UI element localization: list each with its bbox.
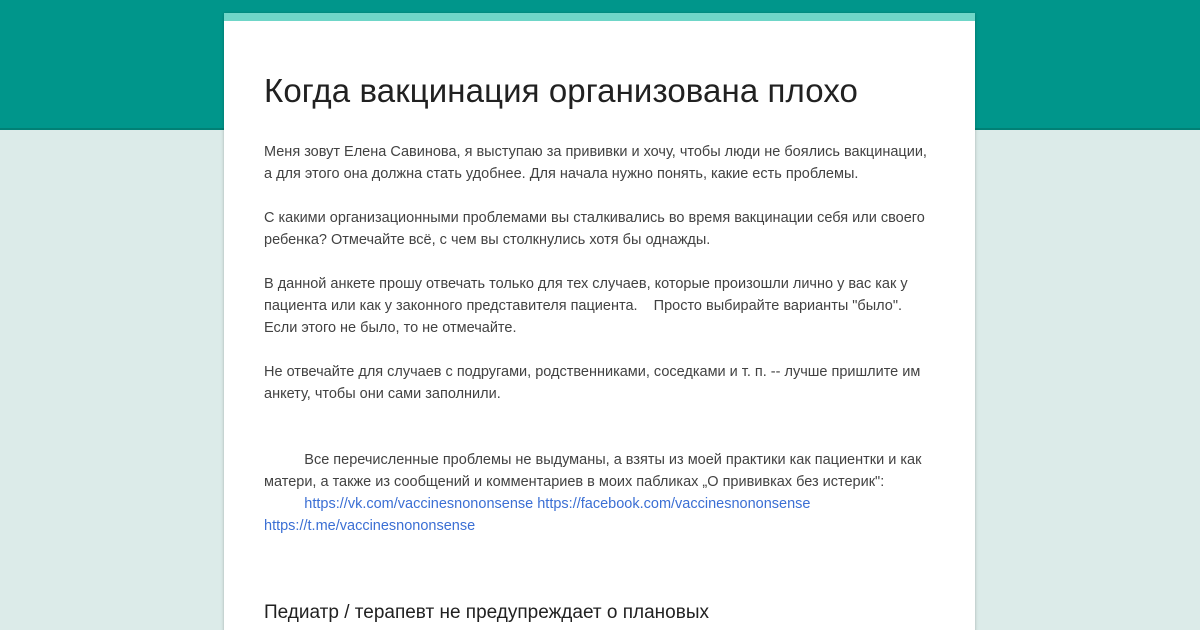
description-paragraph-2: С какими организационными проблемами вы … xyxy=(264,207,935,251)
form-card-content: Когда вакцинация организована плохо Меня… xyxy=(224,21,975,627)
link-facebook[interactable]: https://facebook.com/vaccinesnononsense xyxy=(537,496,810,512)
link-telegram[interactable]: https://t.me/vaccinesnononsense xyxy=(264,518,475,534)
page-stage: Когда вакцинация организована плохо Меня… xyxy=(0,0,1200,630)
form-card: Когда вакцинация организована плохо Меня… xyxy=(224,13,975,630)
link-vk[interactable]: https://vk.com/vaccinesnononsense xyxy=(304,496,533,512)
form-description: Меня зовут Елена Савинова, я выступаю за… xyxy=(224,117,975,559)
description-paragraph-1: Меня зовут Елена Савинова, я выступаю за… xyxy=(264,141,935,185)
form-card-accent-bar xyxy=(224,13,975,21)
first-section-heading: Педиатр / терапевт не предупреждает о пл… xyxy=(224,559,975,627)
description-paragraph-3: В данной анкете прошу отвечать только дл… xyxy=(264,273,935,339)
description-links: https://vk.com/vaccinesnononsense https:… xyxy=(264,496,815,534)
form-title: Когда вакцинация организована плохо xyxy=(224,21,975,117)
description-paragraph-5: Все перечисленные проблемы не выдуманы, … xyxy=(264,427,935,559)
description-paragraph-5-text: Все перечисленные проблемы не выдуманы, … xyxy=(264,452,925,490)
description-paragraph-4: Не отвечайте для случаев с подругами, ро… xyxy=(264,361,935,405)
